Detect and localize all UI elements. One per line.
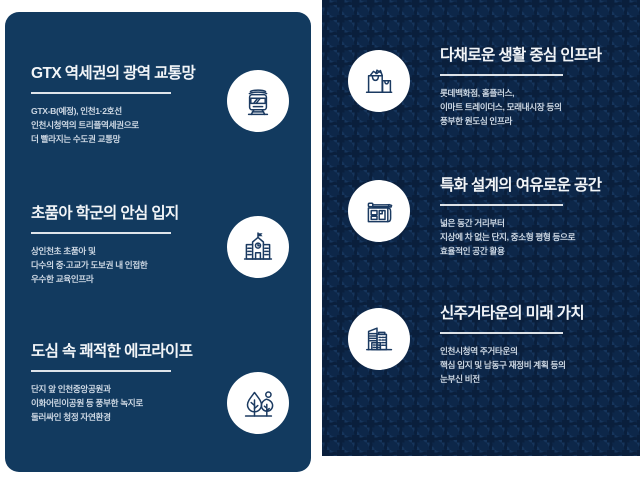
body-line: 인천시청역의 트리플역세권으로 bbox=[31, 118, 211, 132]
feature-text-block: 특화 설계의 여유로운 공간 넓은 동간 거리부터 지상에 차 없는 단지, 중… bbox=[440, 176, 636, 258]
feature-text-block: GTX 역세권의 광역 교통망 GTX-B(예정), 인천1·2호선 인천시청역… bbox=[31, 64, 211, 146]
shopping-bags-icon bbox=[362, 64, 396, 98]
infographic-stage: GTX 역세권의 광역 교통망 GTX-B(예정), 인천1·2호선 인천시청역… bbox=[0, 0, 640, 480]
right-panel: 다채로운 생활 중심 인프라 롯데백화점, 홈플러스, 이마트 트레이더스, 모… bbox=[322, 0, 640, 456]
title-divider bbox=[31, 370, 171, 372]
feature-icon-badge bbox=[227, 70, 289, 132]
feature-text-block: 초품아 학군의 안심 입지 상인천초 초품아 및 다수의 중·고교가 도보권 내… bbox=[31, 204, 211, 286]
feature-title: 도심 속 쾌적한 에코라이프 bbox=[31, 342, 211, 361]
body-line: 이화어린이공원 등 풍부한 녹지로 bbox=[31, 396, 211, 410]
buildings-icon bbox=[362, 322, 396, 356]
feature-body: 단지 앞 인천중앙공원과 이화어린이공원 등 풍부한 녹지로 둘러싸인 청정 자… bbox=[31, 382, 211, 425]
body-line: 더 빨라지는 수도권 교통망 bbox=[31, 132, 211, 146]
body-line: 핵심 입지 및 남동구 재정비 계획 등의 bbox=[440, 358, 636, 372]
body-line: 다수의 중·고교가 도보권 내 인접한 bbox=[31, 258, 211, 272]
body-line: 단지 앞 인천중앙공원과 bbox=[31, 382, 211, 396]
body-line: 이마트 트레이더스, 모래내시장 등의 bbox=[440, 100, 636, 114]
feature-icon-badge bbox=[348, 180, 410, 242]
body-line: GTX-B(예정), 인천1·2호선 bbox=[31, 104, 211, 118]
feature-title: 특화 설계의 여유로운 공간 bbox=[440, 176, 636, 195]
title-divider bbox=[31, 232, 171, 234]
feature-card-gtx: GTX 역세권의 광역 교통망 GTX-B(예정), 인천1·2호선 인천시청역… bbox=[5, 54, 311, 194]
feature-icon-badge bbox=[348, 308, 410, 370]
body-line: 상인천초 초품아 및 bbox=[31, 244, 211, 258]
feature-title: GTX 역세권의 광역 교통망 bbox=[31, 64, 211, 83]
feature-body: 인천시청역 주거타운의 핵심 입지 및 남동구 재정비 계획 등의 눈부신 비전 bbox=[440, 344, 636, 387]
title-divider bbox=[440, 204, 563, 206]
feature-body: 넓은 동간 거리부터 지상에 차 없는 단지, 중소형 평형 등으로 효율적인 … bbox=[440, 216, 636, 259]
body-line: 넓은 동간 거리부터 bbox=[440, 216, 636, 230]
feature-body: GTX-B(예정), 인천1·2호선 인천시청역의 트리플역세권으로 더 빨라지… bbox=[31, 104, 211, 147]
train-icon bbox=[241, 84, 275, 118]
body-line: 우수한 교육인프라 bbox=[31, 272, 211, 286]
body-line: 지상에 차 없는 단지, 중소형 평형 등으로 bbox=[440, 230, 636, 244]
title-divider bbox=[440, 74, 563, 76]
title-divider bbox=[31, 92, 171, 94]
feature-card-design: 특화 설계의 여유로운 공간 넓은 동간 거리부터 지상에 차 없는 단지, 중… bbox=[322, 168, 640, 298]
body-line: 풍부한 원도심 인프라 bbox=[440, 114, 636, 128]
body-line: 인천시청역 주거타운의 bbox=[440, 344, 636, 358]
body-line: 롯데백화점, 홈플러스, bbox=[440, 86, 636, 100]
feature-icon-badge bbox=[227, 216, 289, 278]
feature-card-school: 초품아 학군의 안심 입지 상인천초 초품아 및 다수의 중·고교가 도보권 내… bbox=[5, 194, 311, 334]
title-divider bbox=[440, 332, 563, 334]
blueprint-icon bbox=[362, 194, 396, 228]
feature-text-block: 다채로운 생활 중심 인프라 롯데백화점, 홈플러스, 이마트 트레이더스, 모… bbox=[440, 46, 636, 128]
feature-title: 초품아 학군의 안심 입지 bbox=[31, 204, 211, 223]
body-line: 효율적인 공간 활용 bbox=[440, 244, 636, 258]
feature-icon-badge bbox=[348, 50, 410, 112]
trees-icon bbox=[240, 386, 276, 420]
body-line: 둘러싸인 청정 자연환경 bbox=[31, 410, 211, 424]
school-icon bbox=[240, 230, 276, 264]
feature-card-eco: 도심 속 쾌적한 에코라이프 단지 앞 인천중앙공원과 이화어린이공원 등 풍부… bbox=[5, 332, 311, 472]
feature-text-block: 도심 속 쾌적한 에코라이프 단지 앞 인천중앙공원과 이화어린이공원 등 풍부… bbox=[31, 342, 211, 424]
left-panel: GTX 역세권의 광역 교통망 GTX-B(예정), 인천1·2호선 인천시청역… bbox=[5, 12, 311, 472]
feature-icon-badge bbox=[227, 372, 289, 434]
feature-title: 신주거타운의 미래 가치 bbox=[440, 304, 636, 323]
feature-text-block: 신주거타운의 미래 가치 인천시청역 주거타운의 핵심 입지 및 남동구 재정비… bbox=[440, 304, 636, 386]
feature-card-future: 신주거타운의 미래 가치 인천시청역 주거타운의 핵심 입지 및 남동구 재정비… bbox=[322, 296, 640, 426]
feature-card-infra: 다채로운 생활 중심 인프라 롯데백화점, 홈플러스, 이마트 트레이더스, 모… bbox=[322, 38, 640, 168]
body-line: 눈부신 비전 bbox=[440, 372, 636, 386]
feature-body: 롯데백화점, 홈플러스, 이마트 트레이더스, 모래내시장 등의 풍부한 원도심… bbox=[440, 86, 636, 129]
feature-title: 다채로운 생활 중심 인프라 bbox=[440, 46, 636, 65]
feature-body: 상인천초 초품아 및 다수의 중·고교가 도보권 내 인접한 우수한 교육인프라 bbox=[31, 244, 211, 287]
